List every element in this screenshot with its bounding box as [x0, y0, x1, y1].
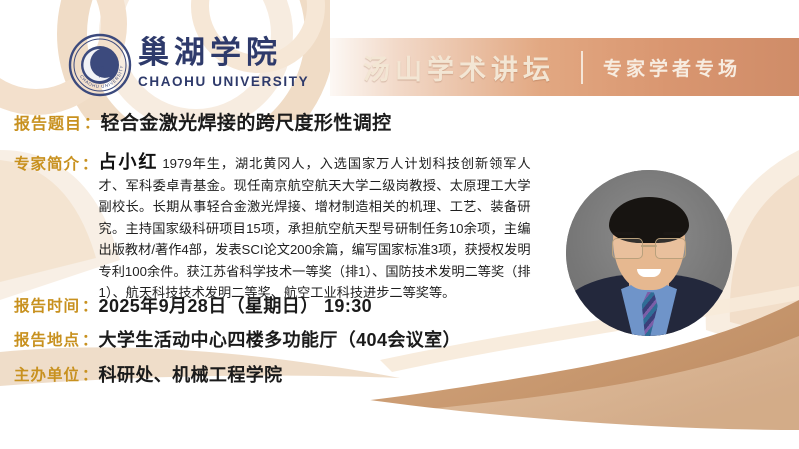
- report-title-row: 报告题目 ： 轻合金激光焊接的跨尺度形性调控: [14, 108, 392, 135]
- report-time-colon: ：: [82, 294, 98, 316]
- speaker-portrait: [566, 170, 732, 336]
- banner-subtitle: 专家学者专场: [603, 54, 741, 81]
- svg-text:1977: 1977: [95, 65, 105, 70]
- banner-divider: [581, 51, 583, 84]
- report-time-label: 报告时间: [14, 294, 80, 316]
- report-host-colon: ：: [82, 363, 98, 385]
- report-time-row: 报告时间 ： 2025年9月28日（星期日） 19:30: [14, 292, 372, 318]
- report-title-value: 轻合金激光焊接的跨尺度形性调控: [101, 108, 392, 135]
- university-logo: 1977 CHAOHU UNIVERSITY 巢湖学院: [68, 33, 132, 97]
- speaker-bio-text-block: 占小红1979年生，湖北黄冈人，入选国家万人计划科技创新领军人才、军科委卓青基金…: [99, 152, 531, 304]
- poster-header: 1977 CHAOHU UNIVERSITY 巢湖学院 巢湖学院 CHAOHU …: [0, 0, 799, 100]
- report-host-row: 主办单位 ： 科研处、机械工程学院: [14, 361, 283, 387]
- university-name-en: CHAOHU UNIVERSITY: [138, 74, 358, 89]
- report-place-colon: ：: [82, 328, 98, 350]
- portrait-brow-right: [663, 232, 685, 235]
- glasses-lens-left: [612, 238, 643, 259]
- speaker-bio-text: 1979年生，湖北黄冈人，入选国家万人计划科技创新领军人才、军科委卓青基金。现任…: [99, 156, 531, 300]
- glasses-lens-right: [655, 238, 686, 259]
- event-banner: 汤山学术讲坛 专家学者专场: [330, 38, 799, 96]
- poster-root: 1977 CHAOHU UNIVERSITY 巢湖学院 巢湖学院 CHAOHU …: [0, 0, 799, 449]
- speaker-name: 占小红: [99, 152, 159, 172]
- report-title-label: 报告题目: [14, 110, 82, 134]
- report-place-label: 报告地点: [14, 328, 80, 350]
- report-time-value: 2025年9月28日（星期日） 19:30: [99, 292, 373, 318]
- glasses-icon: [612, 238, 686, 257]
- university-name-block: 巢湖学院 CHAOHU UNIVERSITY: [138, 36, 358, 89]
- portrait-brow-left: [613, 232, 635, 235]
- speaker-bio-label: 专家简介: [14, 152, 80, 174]
- report-title-colon: ：: [84, 111, 100, 133]
- university-name-cn: 巢湖学院: [138, 36, 358, 71]
- banner-title: 汤山学术讲坛: [363, 48, 555, 87]
- speaker-bio-colon: ：: [82, 152, 98, 174]
- speaker-bio-row: 专家简介 ： 占小红1979年生，湖北黄冈人，入选国家万人计划科技创新领军人才、…: [14, 152, 534, 304]
- report-place-value: 大学生活动中心四楼多功能厅（404会议室）: [99, 326, 461, 352]
- report-host-value: 科研处、机械工程学院: [99, 361, 283, 387]
- report-host-label: 主办单位: [14, 363, 80, 385]
- report-place-row: 报告地点 ： 大学生活动中心四楼多功能厅（404会议室）: [14, 326, 461, 352]
- seal-icon: 1977 CHAOHU UNIVERSITY 巢湖学院: [68, 33, 132, 97]
